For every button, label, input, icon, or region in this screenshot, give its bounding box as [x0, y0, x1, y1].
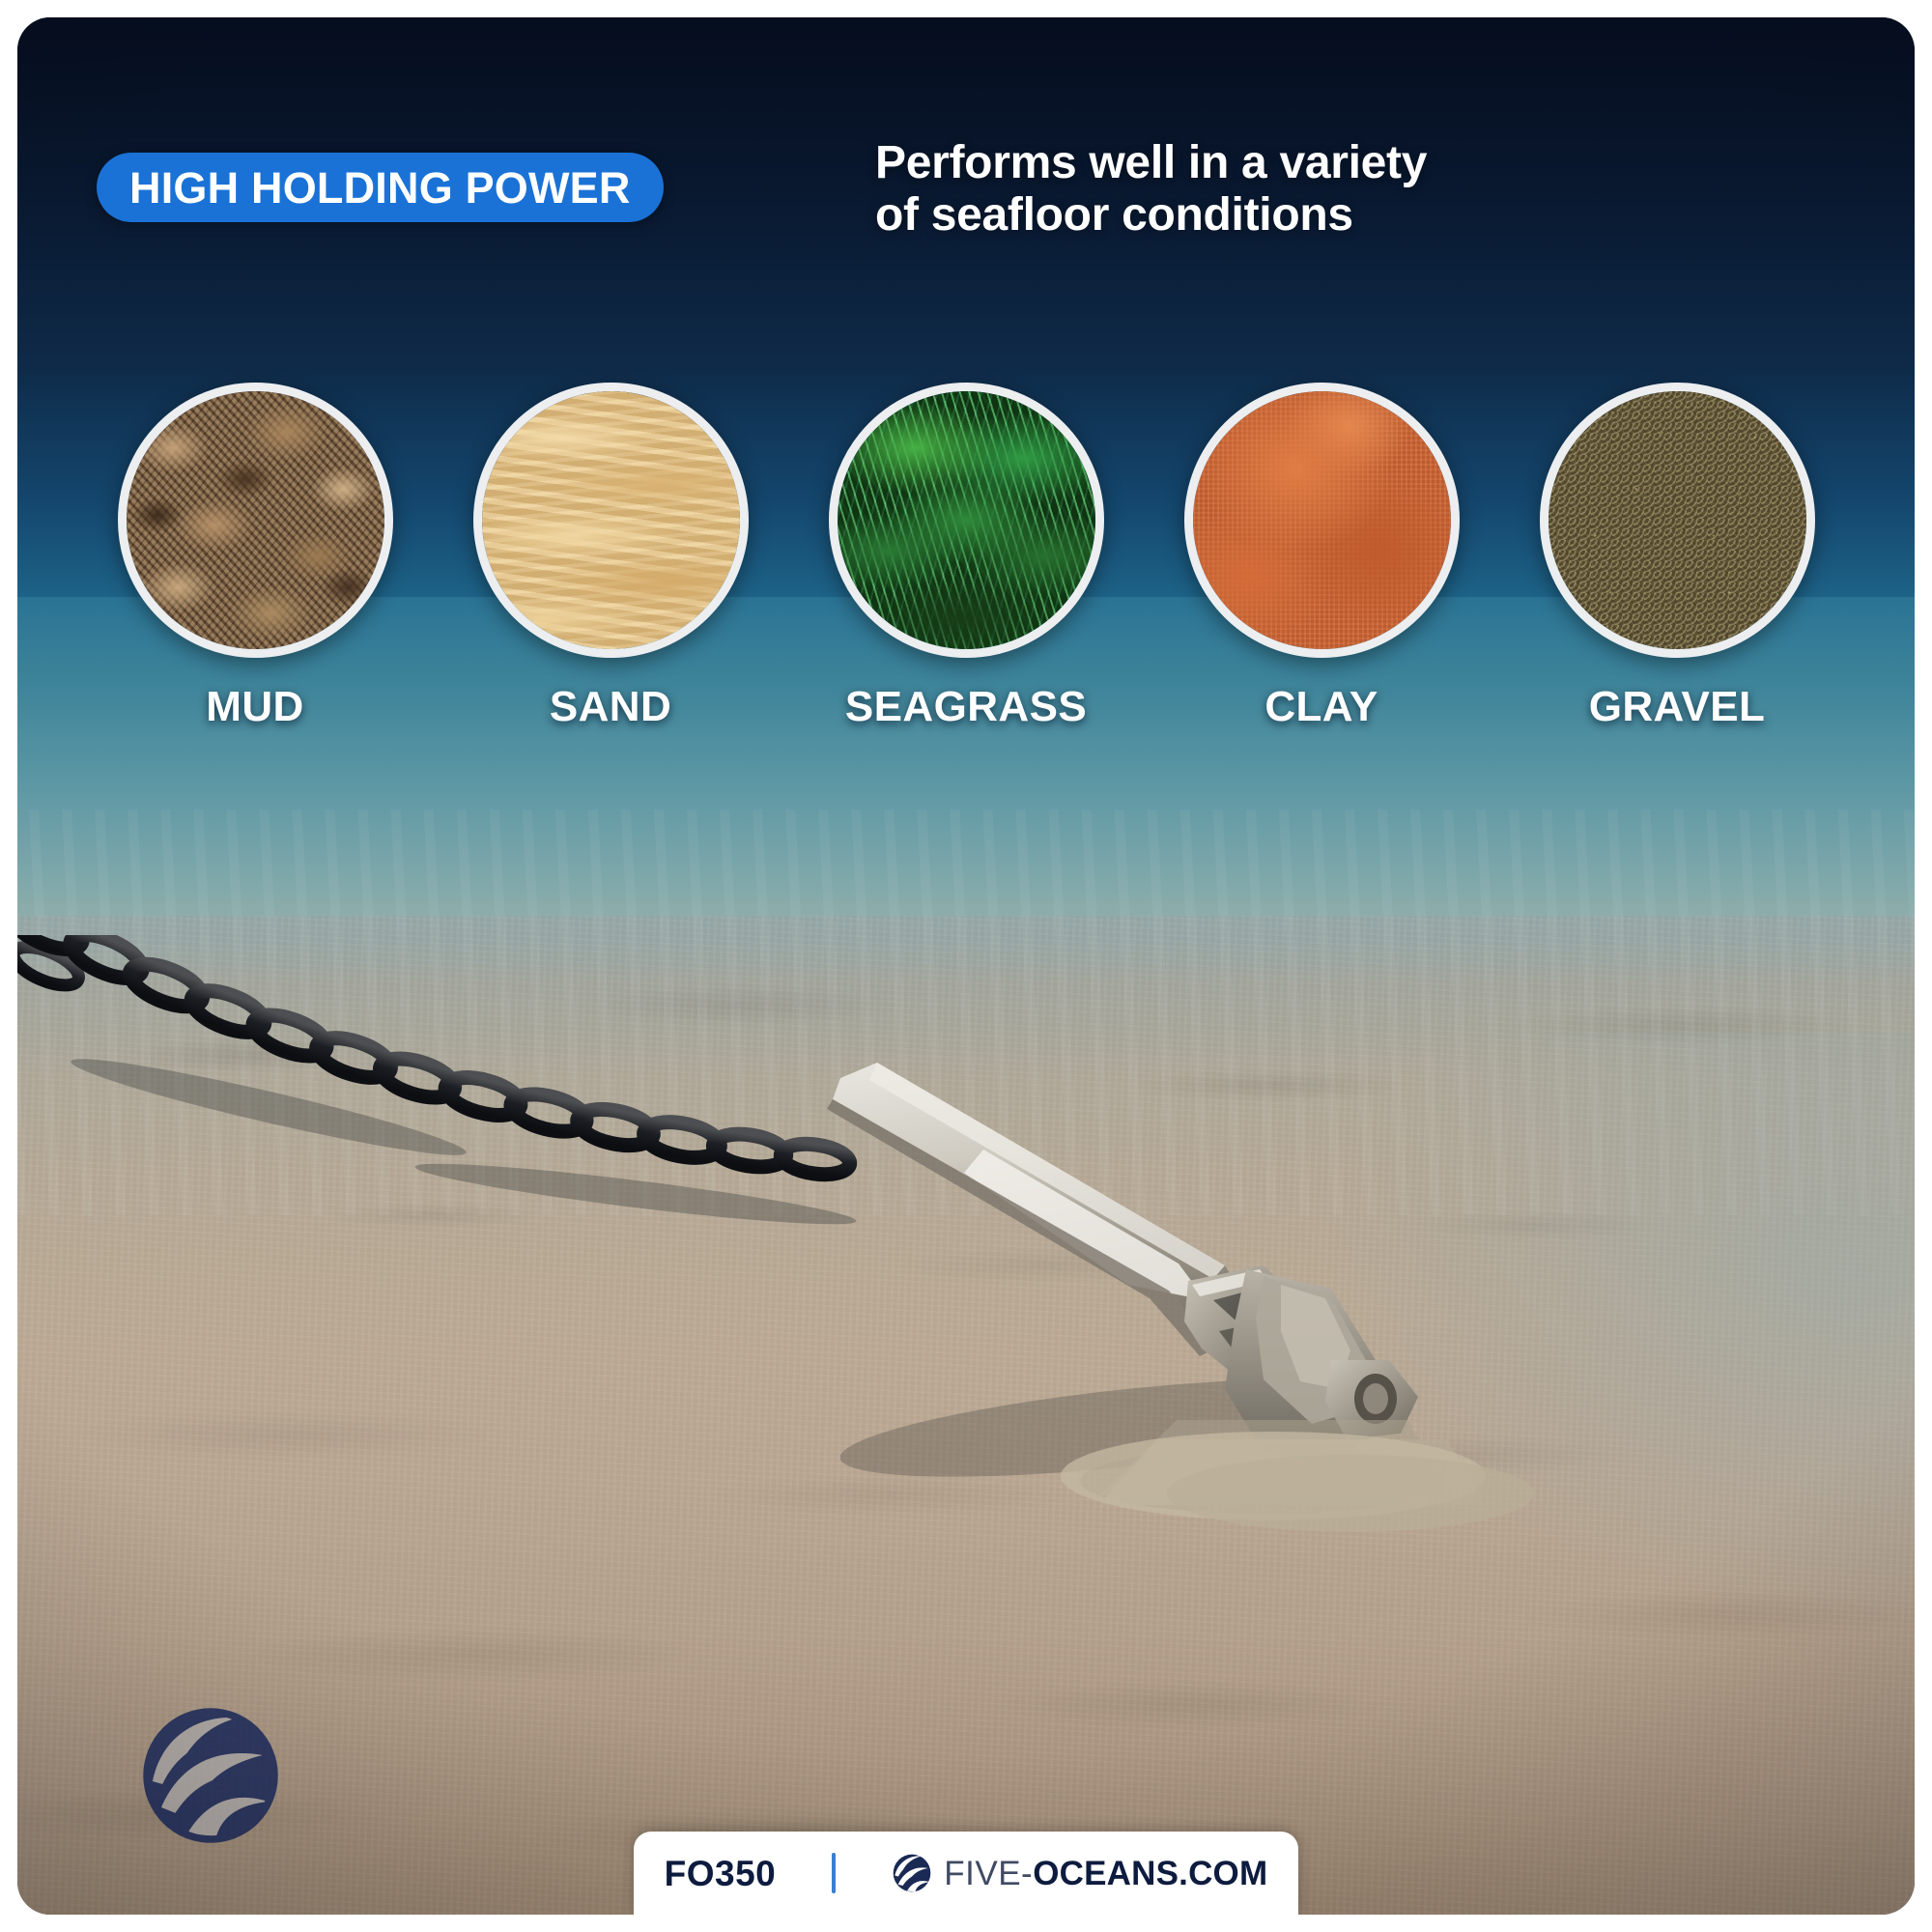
footer-divider: [832, 1853, 836, 1893]
headline-line-2: of seafloor conditions: [875, 189, 1427, 241]
material-label-clay: CLAY: [1264, 683, 1378, 731]
clay-texture: [1193, 391, 1451, 649]
material-item-seagrass: SEAGRASS: [821, 383, 1111, 731]
header: HIGH HOLDING POWER Performs well in a va…: [17, 17, 1915, 307]
material-label-gravel: GRAVEL: [1589, 683, 1765, 731]
product-model-label: FO350: [665, 1856, 777, 1891]
sand-texture-swatch-icon: [473, 383, 749, 658]
material-label-mud: MUD: [206, 683, 303, 731]
headline: Performs well in a variety of seafloor c…: [875, 137, 1427, 241]
brand-name: FIVE-OCEANS.COM: [944, 1857, 1267, 1890]
gravel-texture: [1548, 391, 1806, 649]
material-label-sand: SAND: [550, 683, 671, 731]
material-label-seagrass: SEAGRASS: [845, 683, 1087, 731]
material-item-mud: MUD: [110, 383, 400, 731]
seagrass-texture-swatch-icon: [829, 383, 1104, 658]
seafloor-conditions-row: MUD SAND SEAGRASS CLAY GRAVEL: [17, 383, 1915, 731]
gravel-texture-swatch-icon: [1540, 383, 1815, 658]
mud-texture-swatch-icon: [118, 383, 393, 658]
badge-label: HIGH HOLDING POWER: [129, 166, 631, 210]
high-holding-power-badge: HIGH HOLDING POWER: [97, 153, 664, 222]
footer-badge: FO350 FIVE-OCEANS.COM: [634, 1832, 1298, 1915]
brand-lockup: FIVE-OCEANS.COM: [892, 1853, 1267, 1893]
clay-texture-swatch-icon: [1184, 383, 1460, 658]
brand-suffix: OCEANS.COM: [1033, 1855, 1267, 1892]
infographic-card: HIGH HOLDING POWER Performs well in a va…: [17, 17, 1915, 1915]
material-item-clay: CLAY: [1177, 383, 1466, 731]
brand-prefix: FIVE-: [944, 1855, 1033, 1892]
mud-texture: [127, 391, 384, 649]
material-item-gravel: GRAVEL: [1532, 383, 1822, 731]
headline-line-1: Performs well in a variety: [875, 137, 1427, 189]
five-oceans-shell-logo-icon: [892, 1853, 932, 1893]
sand-texture: [482, 391, 740, 649]
seagrass-texture: [838, 391, 1095, 649]
material-item-sand: SAND: [466, 383, 755, 731]
